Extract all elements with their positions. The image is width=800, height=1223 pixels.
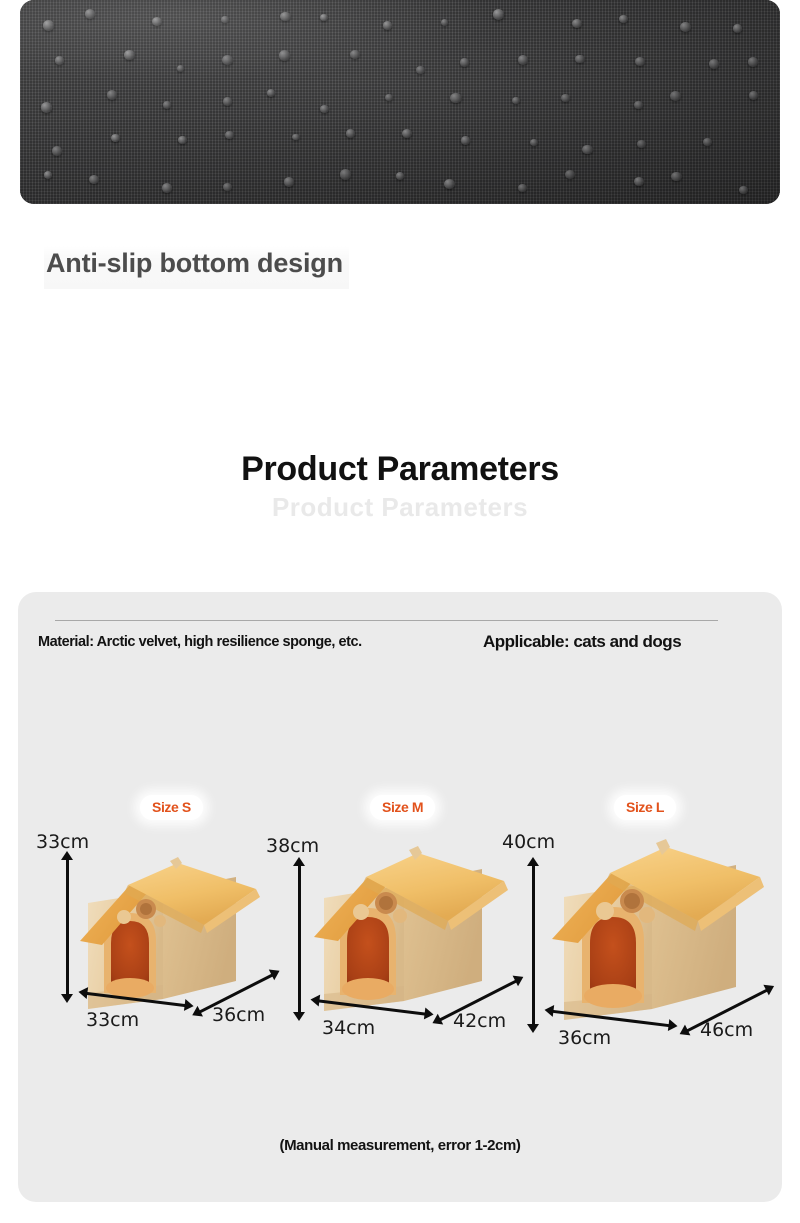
status-badge: Size M [370, 795, 435, 820]
status-badge: Size S [140, 795, 203, 820]
page-title-echo: Product Parameters [0, 492, 800, 523]
anti-slip-bottom-photo [20, 0, 780, 204]
depth-label-m: 42cm [453, 1010, 506, 1032]
height-label-l: 40cm [502, 831, 555, 853]
width-label-l: 36cm [558, 1027, 611, 1049]
spec-row: Material: Arctic velvet, high resilience… [18, 634, 782, 662]
height-label-s: 33cm [36, 831, 89, 853]
spec-applicable-label: Applicable: cats and dogs [483, 632, 681, 652]
divider [55, 620, 718, 621]
dog-house-illustration-s [58, 833, 268, 1028]
page-title: Product Parameters [0, 450, 800, 489]
measurement-note: (Manual measurement, error 1-2cm) [18, 1137, 782, 1154]
depth-label-s: 36cm [212, 1004, 265, 1026]
photo-lighting-overlay [20, 0, 780, 204]
hero-caption: Anti-slip bottom design [44, 246, 349, 289]
spec-material-label: Material: Arctic velvet, high resilience… [38, 634, 362, 650]
width-label-s: 33cm [86, 1009, 139, 1031]
depth-label-l: 46cm [700, 1019, 753, 1041]
dog-house-illustration-l [534, 815, 774, 1042]
height-arrow-l [532, 865, 535, 1025]
height-arrow-s [66, 859, 69, 995]
height-arrow-m [298, 865, 301, 1013]
width-label-m: 34cm [322, 1017, 375, 1039]
size-chart: Size S [18, 787, 782, 1117]
product-parameters-panel: Material: Arctic velvet, high resilience… [18, 592, 782, 1202]
height-label-m: 38cm [266, 835, 319, 857]
